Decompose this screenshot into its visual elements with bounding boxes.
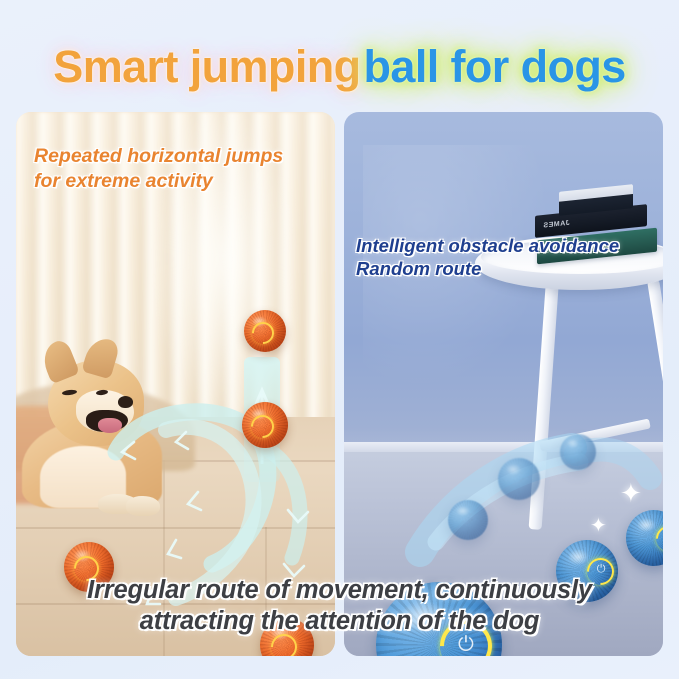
title-part-one: Smart jumping — [53, 44, 362, 89]
title-part-two: ball for dogs — [363, 44, 626, 89]
left-panel-caption: Repeated horizontal jumps for extreme ac… — [34, 144, 283, 193]
power-icon: ⏻ — [597, 564, 606, 575]
blue-ball-ghost — [448, 500, 488, 540]
burst-icon: ✦ — [620, 480, 642, 506]
shiba-inu-dog — [22, 338, 172, 508]
skirting-board — [344, 442, 663, 452]
right-panel-caption: Intelligent obstacle avoidance Random ro… — [356, 234, 619, 281]
orange-ball — [242, 402, 288, 448]
power-icon: ⏻ — [458, 635, 474, 655]
blue-ball-ghost — [498, 458, 540, 500]
bottom-banner: Irregular route of movement, continuousl… — [0, 575, 679, 637]
page-title: Smart jumping ball for dogs — [0, 30, 679, 102]
blue-ball-ghost — [560, 434, 596, 470]
burst-icon: ✦ — [590, 516, 607, 536]
orange-ball — [244, 310, 286, 352]
book-title: JAMES — [543, 220, 570, 230]
product-poster: Smart jumping ball for dogs — [0, 0, 679, 679]
